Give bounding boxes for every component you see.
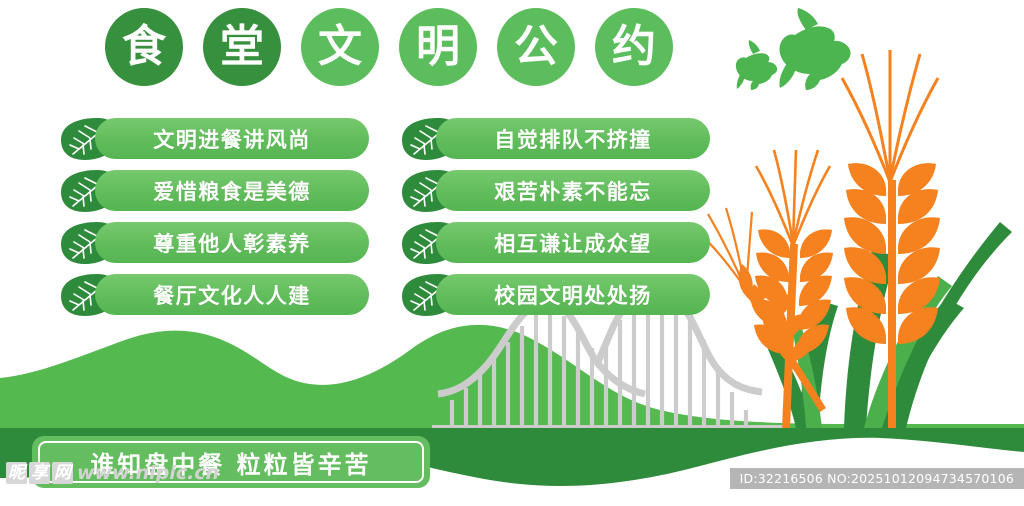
title-char-2: 文 [301, 8, 379, 86]
rule-item: 自觉排队不挤撞 [398, 118, 710, 159]
rule-pill: 自觉排队不挤撞 [436, 118, 710, 159]
wheat-grains-small [739, 264, 816, 362]
wheat-grains-main [844, 163, 940, 344]
wheat-stalk-main [842, 50, 940, 428]
watermark-logo-char-2: 网 [52, 462, 73, 484]
title-char-0: 食 [105, 8, 183, 86]
title-char-5: 约 [595, 8, 673, 86]
watermark-logo-char-1: 享 [29, 462, 50, 484]
watermark-logo: 昵 享 网 [6, 462, 73, 484]
rule-pill: 餐厅文化人人建 [95, 274, 369, 315]
rules-column-right: 自觉排队不挤撞 艰苦朴素不能忘 [398, 118, 710, 315]
rule-pill: 尊重他人彰素养 [95, 222, 369, 263]
hills-shape [0, 325, 1024, 428]
title-char-4: 公 [497, 8, 575, 86]
rule-pill: 文明进餐讲风尚 [95, 118, 369, 159]
wheat-stalk-small [694, 208, 826, 412]
dove-large-icon [779, 8, 850, 90]
rule-pill: 艰苦朴素不能忘 [436, 170, 710, 211]
rule-pill: 相互谦让成众望 [436, 222, 710, 263]
watermark: 昵 享 网 www.nipic.cn [6, 462, 219, 484]
rule-item: 校园文明处处扬 [398, 274, 710, 315]
watermark-url: www.nipic.cn [77, 462, 219, 484]
rule-label: 爱惜粮食是美德 [153, 176, 311, 206]
poster-canvas: 食 堂 文 明 公 约 文明进餐讲风尚 [0, 0, 1024, 506]
rules-column-left: 文明进餐讲风尚 爱惜粮食是美德 [57, 118, 369, 315]
rule-label: 艰苦朴素不能忘 [494, 176, 652, 206]
title-char-1: 堂 [203, 8, 281, 86]
poster-title: 食 堂 文 明 公 约 [105, 8, 673, 86]
rule-label: 相互谦让成众望 [494, 228, 652, 258]
title-char-3: 明 [399, 8, 477, 86]
rule-item: 爱惜粮食是美德 [57, 170, 369, 211]
rule-pill: 校园文明处处扬 [436, 274, 710, 315]
rule-label: 餐厅文化人人建 [153, 280, 311, 310]
id-strip: ID:32216506 NO:20251012094734570106 [730, 468, 1024, 489]
wheat-stalk-medium [754, 150, 833, 428]
rule-label: 自觉排队不挤撞 [494, 124, 652, 154]
rule-item: 文明进餐讲风尚 [57, 118, 369, 159]
rule-label: 校园文明处处扬 [494, 280, 652, 310]
rule-item: 艰苦朴素不能忘 [398, 170, 710, 211]
grass-blades-light-shape [790, 276, 952, 428]
rule-label: 尊重他人彰素养 [153, 228, 311, 258]
rule-item: 餐厅文化人人建 [57, 274, 369, 315]
wheat-grains-medium [754, 229, 833, 354]
grass-blades-shape [764, 222, 1012, 428]
rule-pill: 爱惜粮食是美德 [95, 170, 369, 211]
watermark-logo-char-0: 昵 [6, 462, 27, 484]
rule-item: 相互谦让成众望 [398, 222, 710, 263]
rule-label: 文明进餐讲风尚 [153, 124, 311, 154]
rule-item: 尊重他人彰素养 [57, 222, 369, 263]
dove-small-icon [736, 40, 777, 90]
